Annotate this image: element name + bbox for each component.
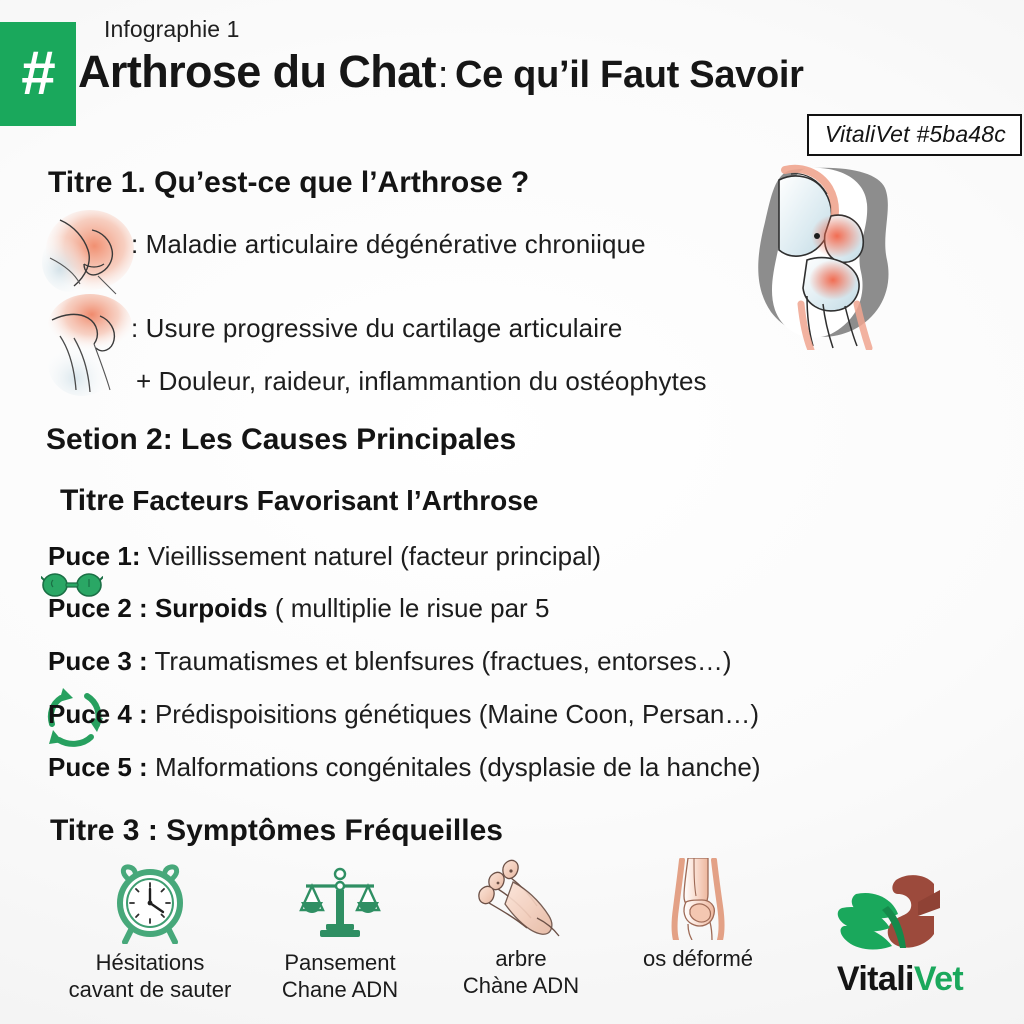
knee-joint-large-illustration [745, 164, 931, 350]
kicker-label: Infographie 1 [104, 16, 240, 43]
symptom-item: arbre Chàne ADN [436, 858, 606, 1000]
section3-heading: Titre 3 : Symptômes Fréqueilles [50, 816, 503, 846]
list-item: Puce 4 : Prédispoisitions génétiques (Ma… [48, 701, 759, 727]
balance-scales-icon [296, 866, 384, 944]
section2-label: Setion 2: [46, 423, 173, 456]
section3-title: Symptômes Fréqueilles [166, 814, 503, 847]
page-title: Arthrose du Chat: Ce qu’il Faut Savoir [78, 48, 804, 96]
symptom-caption-line1: os déformé [613, 946, 783, 973]
symptom-item: os déformé [613, 858, 783, 973]
source-badge: VitaliVet #5ba48c [807, 114, 1022, 156]
logo-wordmark: VitaliVet [800, 962, 1000, 996]
leaf-shield-logo-icon [800, 872, 1000, 960]
alarm-clock-icon [111, 864, 189, 944]
bullet-label: Puce 3 : [48, 646, 148, 676]
symptom-icon-wrap [65, 862, 235, 944]
symptom-icon-wrap [613, 858, 783, 940]
bullet-text: Malformations congénitales (dysplasie de… [148, 752, 761, 782]
symptom-caption: os déformé [613, 946, 783, 973]
logo-word-b: Vet [914, 960, 963, 998]
logo-word-a: Vitali [837, 960, 914, 998]
section1-line-3: + Douleur, raideur, inflammantion du ost… [136, 366, 707, 397]
hand-bones-icon [471, 858, 571, 940]
symptom-caption-line1: Pansement [255, 950, 425, 977]
symptom-icon-wrap [436, 858, 606, 940]
hash-icon: # [21, 43, 54, 105]
infographic-canvas: # Infographie 1 Arthrose du Chat: Ce qu’… [0, 0, 1024, 1024]
list-item: Puce 5 : Malformations congénitales (dys… [48, 754, 761, 780]
section1-line-2: : Usure progressive du cartilage articul… [131, 313, 622, 344]
section1-line-1: : Maladie articulaire dégénérative chron… [131, 229, 646, 260]
bullet-text: Traumatismes et blenfsures (fractues, en… [148, 646, 732, 676]
list-item: Puce 2 : Surpoids ( mulltiplie le risue … [48, 595, 549, 621]
section1-heading: Titre 1. Qu’est-ce que l’Arthrose ? [48, 168, 529, 198]
symptom-caption-line2: Chàne ADN [436, 973, 606, 1000]
section2-sub-title: Facteurs Favorisant l’Arthrose [132, 485, 538, 516]
bullet-label: Puce 1: [48, 541, 141, 571]
section2-title: Les Causes Principales [181, 423, 516, 456]
symptom-caption: Pansement Chane ADN [255, 950, 425, 1004]
bullet-text: ( mulltiplie le risue par 5 [268, 593, 550, 623]
symptom-caption-line1: Hésitations [65, 950, 235, 977]
bullet-text: Prédispoisitions génétiques (Maine Coon,… [148, 699, 759, 729]
section2-sub-label: Titre [60, 484, 124, 517]
section2-heading: Setion 2: Les Causes Principales [46, 425, 516, 455]
symptom-item: Pansement Chane ADN [255, 862, 425, 1004]
brand-logo: VitaliVet [800, 872, 1000, 1012]
title-subtitle: Ce qu’il Faut Savoir [455, 54, 804, 96]
title-separator: : [436, 54, 451, 96]
bullet-label: Puce 4 : [48, 699, 148, 729]
symptom-caption: Hésitations cavant de sauter [65, 950, 235, 1004]
bullet-label: Puce 5 : [48, 752, 148, 782]
hash-badge: # [0, 22, 76, 126]
bullet-label: Puce 2 : [48, 593, 148, 623]
bullet-strong: Surpoids [148, 593, 268, 623]
list-item: Puce 3 : Traumatismes et blenfsures (fra… [48, 648, 732, 674]
bullet-text: Vieillissement naturel (facteur principa… [141, 541, 602, 571]
deformed-bone-icon [656, 858, 740, 940]
symptom-icon-wrap [255, 862, 425, 944]
knee-joint-thumbnail-icon [38, 290, 138, 396]
section2-subheading: Titre Facteurs Favorisant l’Arthrose [60, 486, 538, 516]
symptom-caption-line1: arbre [436, 946, 606, 973]
title-main: Arthrose du Chat [78, 46, 436, 97]
section1-title: Qu’est-ce que l’Arthrose ? [154, 166, 529, 199]
symptom-caption: arbre Chàne ADN [436, 946, 606, 1000]
symptom-item: Hésitations cavant de sauter [65, 862, 235, 1004]
symptom-caption-line2: Chane ADN [255, 977, 425, 1004]
knee-joint-thumbnail-icon [40, 206, 136, 298]
list-item: Puce 1: Vieillissement naturel (facteur … [48, 543, 601, 569]
symptom-caption-line2: cavant de sauter [65, 977, 235, 1004]
section3-label: Titre 3 : [50, 814, 158, 847]
section1-label: Titre 1. [48, 166, 146, 199]
